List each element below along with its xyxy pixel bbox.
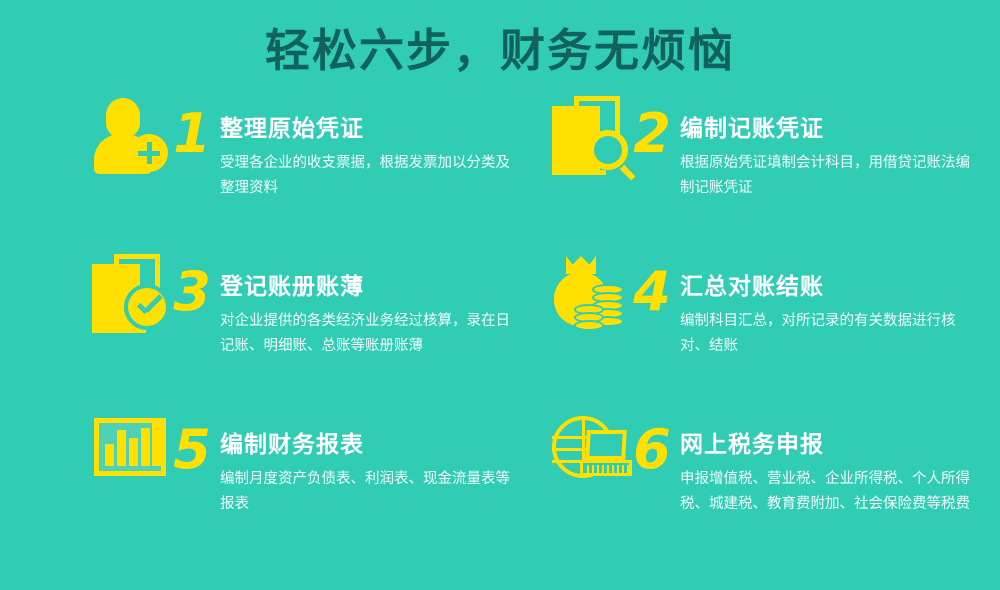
step-text-6: 网上税务申报 申报增值税、营业税、企业所得税、个人所得税、城建税、教育费附加、社… [674,412,982,517]
step-heading-6: 网上税务申报 [680,432,982,458]
step-description-1: 受理各企业的收支票据，根据发票加以分类及整理资料 [220,151,510,201]
step-item-4: 4 汇总对账结账 编制科目汇总，对所记录的有关数据进行核对、结账 [552,254,982,359]
step-item-5: 5 编制财务报表 编制月度资产负债表、利润表、现金流量表等报表 [92,412,512,517]
step-item-3: 3 登记账册账薄 对企业提供的各类经济业务经过核算，录在日记账、明细账、总账等账… [92,254,512,359]
step-description-2: 根据原始凭证填制会计科目，用借贷记账法编制记账凭证 [680,151,980,201]
globe-laptop-icon [552,412,636,492]
step-number-1: 1 [170,110,214,158]
document-check-icon [92,254,176,334]
step-item-2: 2 编制记账凭证 根据原始凭证填制会计科目，用借贷记账法编制记账凭证 [552,96,982,201]
chart-bar [152,422,161,466]
page-title: 轻松六步，财务无烦恼 [0,14,1000,79]
step-text-2: 编制记账凭证 根据原始凭证填制会计科目，用借贷记账法编制记账凭证 [674,96,982,201]
magnifier-handle-shape [620,165,636,181]
chart-bar [105,444,114,466]
step-heading-3: 登记账册账薄 [220,274,512,300]
bar-chart-icon [92,412,176,492]
checkmark-badge-icon [124,284,170,330]
step-text-5: 编制财务报表 编制月度资产负债表、利润表、现金流量表等报表 [214,412,512,517]
step-heading-1: 整理原始凭证 [220,116,512,142]
plus-badge-icon [130,134,168,172]
step-number-6: 6 [630,426,674,474]
keyboard-key [587,465,589,474]
step-number-2: 2 [630,110,674,158]
step-text-1: 整理原始凭证 受理各企业的收支票据，根据发票加以分类及整理资料 [214,96,512,201]
step-heading-5: 编制财务报表 [220,432,512,458]
step-number-5: 5 [170,426,214,474]
document-search-icon [552,96,636,176]
step-description-4: 编制科目汇总，对所记录的有关数据进行核对、结账 [680,309,980,359]
step-description-5: 编制月度资产负债表、利润表、现金流量表等报表 [220,467,510,517]
infographic-poster: 轻松六步，财务无烦恼 1 整理原始凭证 受理各企业的收支票据，根据发票加以分类及… [0,0,1000,590]
keyboard-key [597,465,599,474]
chart-bar [129,438,138,466]
money-bag-tie-shape [566,256,596,274]
step-item-1: 1 整理原始凭证 受理各企业的收支票据，根据发票加以分类及整理资料 [92,96,512,201]
step-item-6: 6 网上税务申报 申报增值税、营业税、企业所得税、个人所得税、城建税、教育费附加… [552,412,982,517]
keyboard-key [592,465,594,474]
chart-bar [117,430,126,466]
keyboard-key [617,465,619,474]
keyboard-key [612,465,614,474]
magnifier-lens-shape [588,130,628,170]
step-description-3: 对企业提供的各类经济业务经过核算，录在日记账、明细账、总账等账册账薄 [220,309,510,359]
laptop-keyboard-shape [580,460,632,476]
keyboard-key [602,465,604,474]
step-text-3: 登记账册账薄 对企业提供的各类经济业务经过核算，录在日记账、明细账、总账等账册账… [214,254,512,359]
chart-bar [141,428,150,466]
chart-frame-shape [94,418,166,476]
person-head-shape [106,98,140,138]
laptop-screen-shape [585,430,627,460]
money-bag-coins-icon [552,254,636,334]
person-plus-icon [92,96,176,176]
coin [574,320,604,331]
step-description-6: 申报增值税、营业税、企业所得税、个人所得税、城建税、教育费附加、社会保险费等税费 [680,467,980,517]
step-heading-2: 编制记账凭证 [680,116,982,142]
steps-grid: 1 整理原始凭证 受理各企业的收支票据，根据发票加以分类及整理资料 2 编制记账… [0,96,1000,586]
step-number-3: 3 [170,268,214,316]
keyboard-key [607,465,609,474]
keyboard-key [627,465,629,474]
step-heading-4: 汇总对账结账 [680,274,982,300]
step-text-4: 汇总对账结账 编制科目汇总，对所记录的有关数据进行核对、结账 [674,254,982,359]
step-number-4: 4 [630,268,674,316]
keyboard-key [622,465,624,474]
